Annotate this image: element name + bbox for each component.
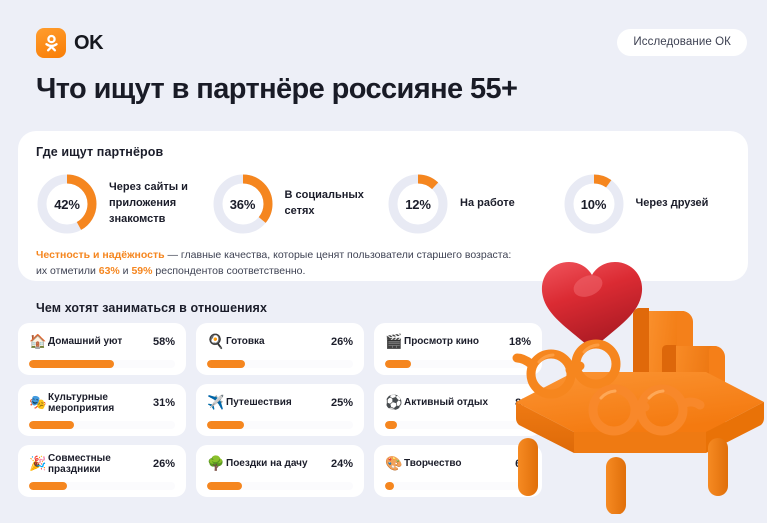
donut-value: 10% [563,173,625,235]
where-search-title: Где ищут партнёров [36,145,730,159]
infographic-page: OK Исследование ОК Что ищут в партнёре р… [0,0,767,523]
activity-label: Поездки на дачу [226,458,331,470]
activity-bar-fill [207,421,244,429]
donut-chart: 36% [212,173,274,235]
activity-card[interactable]: 🎭 Культурные мероприятия 31% [18,384,186,436]
glasses-front [593,389,700,431]
glasses-back-highlight [539,345,598,362]
activity-bar-fill [207,360,245,368]
ok-logo-icon [36,28,66,58]
activities-title: Чем хотят заниматься в отношениях [36,301,267,315]
panel-note: Честность и надёжность — главные качеств… [36,248,511,280]
activity-label: Творчество [404,458,515,470]
donut-label: В социальных сетях [285,188,388,220]
donut-item: 42% Через сайты и приложения знакомств [36,173,212,235]
activity-bar-fill [29,360,114,368]
activity-card-head: 🍳 Готовка 26% [207,332,353,352]
activity-card[interactable]: 🌳 Поездки на дачу 24% [196,445,364,497]
note-text-2: их отметили [36,265,99,277]
activity-card-head: ⚽ Активный отдых 8% [385,393,531,413]
activity-card-head: 🎨 Творчество 6% [385,454,531,474]
donut-value: 42% [36,173,98,235]
activity-card-head: 🎭 Культурные мероприятия 31% [29,393,175,413]
activity-bar-track [385,421,531,429]
activity-card-head: 🎉 Совместные праздники 26% [29,454,175,474]
airplane-icon: ✈️ [207,396,226,410]
note-text-3: и [120,265,132,277]
activity-card[interactable]: ⚽ Активный отдых 8% [374,384,542,436]
activity-label: Путешествия [226,397,331,409]
donut-chart: 12% [387,173,449,235]
activity-percent: 24% [331,458,353,470]
activity-card-head: 🎬 Просмотр кино 18% [385,332,531,352]
activity-bar-track [385,482,531,490]
table [516,372,764,514]
table-leg [708,438,728,496]
activity-label: Просмотр кино [404,336,509,348]
donut-chart: 10% [563,173,625,235]
donut-label: На работе [460,196,515,212]
activity-percent: 26% [331,336,353,348]
header: OK Исследование ОК [36,28,747,62]
activity-bar-fill [207,482,242,490]
activities-card-grid: 🏠 Домашний уют 58% 🎭 Культурные мероприя… [18,323,544,497]
note-text-1: — главные качества, которые ценят пользо… [165,249,512,261]
tree-icon: 🌳 [207,457,226,471]
glasses-front-highlight [601,391,663,398]
activity-percent: 58% [153,336,175,348]
activities-column: 🏠 Домашний уют 58% 🎭 Культурные мероприя… [18,323,186,497]
activity-percent: 18% [509,336,531,348]
activity-bar-track [207,360,353,368]
note-highlight-qualities: Честность и надёжность [36,249,165,261]
book-large [633,308,693,427]
donut-item: 12% На работе [387,173,563,235]
donut-list: 42% Через сайты и приложения знакомств 3… [36,173,738,235]
activity-bar-track [29,482,175,490]
theater-masks-icon: 🎭 [29,396,48,410]
table-leg [606,457,626,514]
activities-column: 🎬 Просмотр кино 18% ⚽ Активный отдых 8% [374,323,542,497]
activity-card[interactable]: 🎨 Творчество 6% [374,445,542,497]
donut-chart: 42% [36,173,98,235]
note-text-4: респондентов соответственно. [152,265,305,277]
brand-logo-text: OK [74,32,103,55]
donut-value: 12% [387,173,449,235]
donut-label: Через сайты и приложения знакомств [109,180,212,228]
note-highlight-63: 63% [99,265,120,277]
activity-label: Совместные праздники [48,453,153,476]
activity-card[interactable]: ✈️ Путешествия 25% [196,384,364,436]
activity-percent: 31% [153,397,175,409]
activity-card[interactable]: 🍳 Готовка 26% [196,323,364,375]
donut-value: 36% [212,173,274,235]
activity-percent: 6% [515,458,531,470]
cooking-pan-icon: 🍳 [207,335,226,349]
activity-label: Активный отдых [404,397,515,409]
activity-bar-track [207,421,353,429]
activity-bar-track [385,360,531,368]
soccer-ball-icon: ⚽ [385,396,404,410]
research-badge[interactable]: Исследование ОК [617,29,747,56]
activity-percent: 25% [331,397,353,409]
house-icon: 🏠 [29,335,48,349]
activity-bar-track [207,482,353,490]
activity-bar-fill [385,421,397,429]
activity-card-head: 🏠 Домашний уют 58% [29,332,175,352]
activity-label: Домашний уют [48,336,153,348]
activity-bar-track [29,360,175,368]
book-small [662,345,730,450]
activity-card[interactable]: 🎉 Совместные праздники 26% [18,445,186,497]
donut-label: Через друзей [636,196,709,212]
activities-column: 🍳 Готовка 26% ✈️ Путешествия 25% [196,323,364,497]
note-highlight-59: 59% [131,265,152,277]
activity-label: Готовка [226,336,331,348]
activity-card[interactable]: 🎬 Просмотр кино 18% [374,323,542,375]
clapper-board-icon: 🎬 [385,335,404,349]
activity-bar-fill [29,482,67,490]
activity-percent: 8% [515,397,531,409]
activity-card-head: ✈️ Путешествия 25% [207,393,353,413]
activity-bar-fill [385,482,394,490]
palette-icon: 🎨 [385,457,404,471]
activity-label: Культурные мероприятия [48,392,153,415]
activity-bar-track [29,421,175,429]
donut-item: 36% В социальных сетях [212,173,388,235]
page-title: Что ищут в партнёре россияне 55+ [36,73,517,106]
activity-bar-fill [29,421,74,429]
activity-bar-fill [385,360,411,368]
activity-percent: 26% [153,458,175,470]
donut-item: 10% Через друзей [563,173,739,235]
activity-card[interactable]: 🏠 Домашний уют 58% [18,323,186,375]
party-popper-icon: 🎉 [29,457,48,471]
where-search-panel: Где ищут партнёров 42% Через сайты и при… [18,131,748,281]
activity-card-head: 🌳 Поездки на дачу 24% [207,454,353,474]
